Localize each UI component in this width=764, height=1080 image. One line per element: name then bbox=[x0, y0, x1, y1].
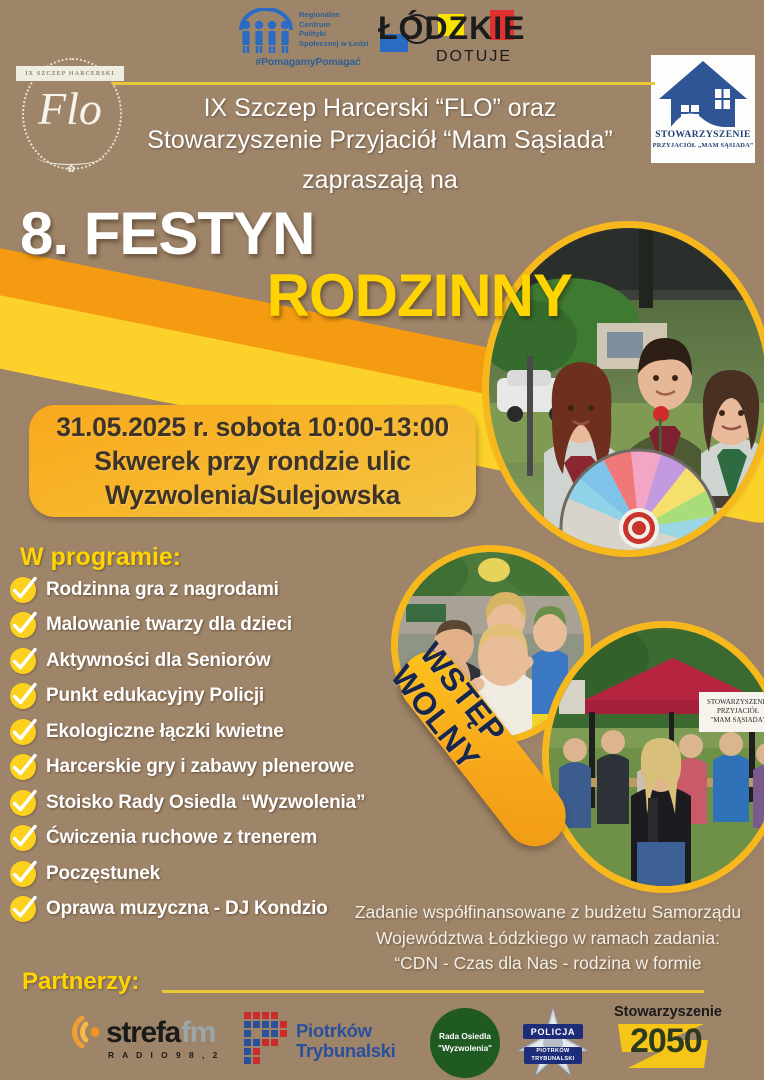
lodzkie-wordmark: ŁÓDZKIE bbox=[378, 10, 525, 47]
partners-heading: Partnerzy: bbox=[22, 968, 139, 996]
program-item-label: Ekologiczne łączki kwietne bbox=[46, 721, 284, 743]
program-item: Aktywności dla Seniorów bbox=[8, 643, 428, 679]
police-star-icon bbox=[515, 1006, 591, 1080]
event-place-line-2: Wyzwolenia/Sulejowska bbox=[105, 478, 400, 512]
policja-city-band: PIOTRKÓW TRYBUNALSKI bbox=[524, 1047, 582, 1064]
program-item-label: Ćwiczenia ruchowe z trenerem bbox=[46, 827, 317, 849]
check-icon bbox=[8, 610, 38, 640]
program-item-label: Malowanie twarzy dla dzieci bbox=[46, 614, 292, 636]
program-item: Poczęstunek bbox=[8, 856, 428, 892]
s2050-number: 2050 bbox=[630, 1022, 702, 1061]
check-icon bbox=[8, 823, 38, 853]
partner-logo-policja: POLICJA PIOTRKÓW TRYBUNALSKI bbox=[515, 1006, 591, 1080]
invitation-text: IX Szczep Harcerski “FLO” oraz Stowarzys… bbox=[90, 92, 670, 196]
svg-text:PRZYJACIÓŁ: PRZYJACIÓŁ bbox=[717, 707, 759, 715]
check-icon bbox=[8, 894, 38, 924]
partner-logo-strefa-fm: strefa fm R A D I O 9 8 , 2 bbox=[66, 1012, 231, 1066]
partner-logo-piotrkow: Piotrków Trybunalski bbox=[238, 1008, 418, 1070]
poster-header: IX SZCZEP HARCERSKI Flo ✿ bbox=[0, 0, 764, 200]
rcps-logo: Regionalne Centrum Polityki Społecznej w… bbox=[237, 8, 379, 70]
rada-line-2: "Wyzwolenia" bbox=[438, 1043, 492, 1055]
rcps-line-1: Regionalne bbox=[299, 10, 369, 20]
program-item: Punkt edukacyjny Policji bbox=[8, 679, 428, 715]
people-group-icon bbox=[237, 8, 295, 54]
program-heading: W programie: bbox=[20, 543, 181, 572]
program-item: Ćwiczenia ruchowe z trenerem bbox=[8, 821, 428, 857]
header-divider bbox=[112, 82, 655, 85]
strefa-word: strefa bbox=[106, 1016, 180, 1050]
piotrkow-line-1: Piotrków bbox=[296, 1020, 372, 1042]
flo-banner: IX SZCZEP HARCERSKI bbox=[16, 66, 124, 81]
program-item-label: Stoisko Rady Osiedla “Wyzwolenia” bbox=[46, 792, 365, 814]
program-item: Stoisko Rady Osiedla “Wyzwolenia” bbox=[8, 785, 428, 821]
policja-city-line-2: TRYBUNALSKI bbox=[531, 1056, 574, 1064]
lodzkie-dotuje-logo: ŁÓDZKIE DOTUJE bbox=[378, 8, 538, 70]
policja-city-line-1: PIOTRKÓW bbox=[536, 1048, 569, 1056]
partners-divider bbox=[162, 990, 704, 993]
svg-text:STOWARZYSZENIE: STOWARZYSZENIE bbox=[707, 698, 764, 706]
funding-line-2: Województwa Łódzkiego w ramach zadania: bbox=[336, 926, 760, 952]
program-item: Ekologiczne łączki kwietne bbox=[8, 714, 428, 750]
event-details-box: 31.05.2025 r. sobota 10:00-13:00 Skwerek… bbox=[29, 405, 476, 517]
strefa-fm-word: fm bbox=[181, 1016, 215, 1050]
event-place-line-1: Skwerek przy rondzie ulic bbox=[94, 444, 411, 478]
check-icon bbox=[8, 859, 38, 889]
flo-banner-text: IX SZCZEP HARCERSKI bbox=[25, 70, 115, 77]
program-item: Malowanie twarzy dla dzieci bbox=[8, 608, 428, 644]
flo-fleur-icon: ✿ bbox=[67, 164, 75, 175]
program-list: Rodzinna gra z nagrodamiMalowanie twarzy… bbox=[8, 572, 428, 927]
partners-row: strefa fm R A D I O 9 8 , 2 bbox=[0, 1000, 764, 1080]
check-icon bbox=[8, 717, 38, 747]
partner-logo-stowarzyszenie-2050: Stowarzyszenie 2050 bbox=[608, 1000, 738, 1080]
funding-note: Zadanie współfinansowane z budżetu Samor… bbox=[336, 900, 760, 977]
invitation-line-3: zapraszają na bbox=[90, 164, 670, 196]
lodzkie-subtitle: DOTUJE bbox=[436, 48, 512, 66]
check-icon bbox=[8, 788, 38, 818]
photo-crowd-tent: STOWARZYSZENIE PRZYJACIÓŁ "MAM SĄSIADA" bbox=[549, 628, 764, 886]
rada-line-1: Rada Osiedla bbox=[439, 1031, 491, 1043]
program-item: Harcerskie gry i zabawy plenerowe bbox=[8, 750, 428, 786]
title-line-1: 8. FESTYN bbox=[20, 203, 580, 265]
rcps-line-3: Polityki bbox=[299, 29, 369, 39]
program-item: Rodzinna gra z nagrodami bbox=[8, 572, 428, 608]
piotrkow-line-2: Trybunalski bbox=[296, 1040, 396, 1062]
svg-text:"MAM SĄSIADA": "MAM SĄSIADA" bbox=[710, 716, 764, 724]
funding-line-3: “CDN - Czas dla Nas - rodzina w formie bbox=[336, 951, 760, 977]
rcps-line-4: Społecznej w Łodzi bbox=[299, 39, 369, 49]
page-title: 8. FESTYN RODZINNY bbox=[20, 203, 580, 327]
program-item-label: Poczęstunek bbox=[46, 863, 160, 885]
rcps-line-2: Centrum bbox=[299, 20, 369, 30]
check-icon bbox=[8, 681, 38, 711]
rcps-hashtag: #PomagamyPomagać bbox=[237, 56, 379, 68]
program-item-label: Oprawa muzyczna - DJ Kondzio bbox=[46, 898, 328, 920]
program-item-label: Rodzinna gra z nagrodami bbox=[46, 579, 279, 601]
check-icon bbox=[8, 752, 38, 782]
policja-label: POLICJA bbox=[531, 1027, 576, 1037]
policja-band: POLICJA bbox=[523, 1024, 583, 1039]
signal-wave-icon bbox=[66, 1012, 106, 1052]
piotrkow-p-icon bbox=[238, 1008, 296, 1070]
program-item-label: Harcerskie gry i zabawy plenerowe bbox=[46, 756, 354, 778]
partner-logo-rada-osiedla: Rada Osiedla "Wyzwolenia" bbox=[430, 1008, 500, 1078]
house-icon bbox=[657, 59, 749, 129]
program-item-label: Aktywności dla Seniorów bbox=[46, 650, 271, 672]
title-line-2: RODZINNY bbox=[20, 265, 580, 327]
check-icon bbox=[8, 575, 38, 605]
invitation-line-1: IX Szczep Harcerski “FLO” oraz bbox=[90, 92, 670, 124]
strefa-radio-frequency: R A D I O 9 8 , 2 bbox=[108, 1050, 220, 1060]
poster-canvas: IX SZCZEP HARCERSKI Flo ✿ bbox=[0, 0, 764, 1080]
rcps-name: Regionalne Centrum Polityki Społecznej w… bbox=[299, 10, 369, 48]
program-item-label: Punkt edukacyjny Policji bbox=[46, 685, 264, 707]
check-icon bbox=[8, 646, 38, 676]
funding-line-1: Zadanie współfinansowane z budżetu Samor… bbox=[336, 900, 760, 926]
event-date-time: 31.05.2025 r. sobota 10:00-13:00 bbox=[56, 410, 449, 444]
invitation-line-2: Stowarzyszenie Przyjaciół “Mam Sąsiada” bbox=[90, 124, 670, 156]
